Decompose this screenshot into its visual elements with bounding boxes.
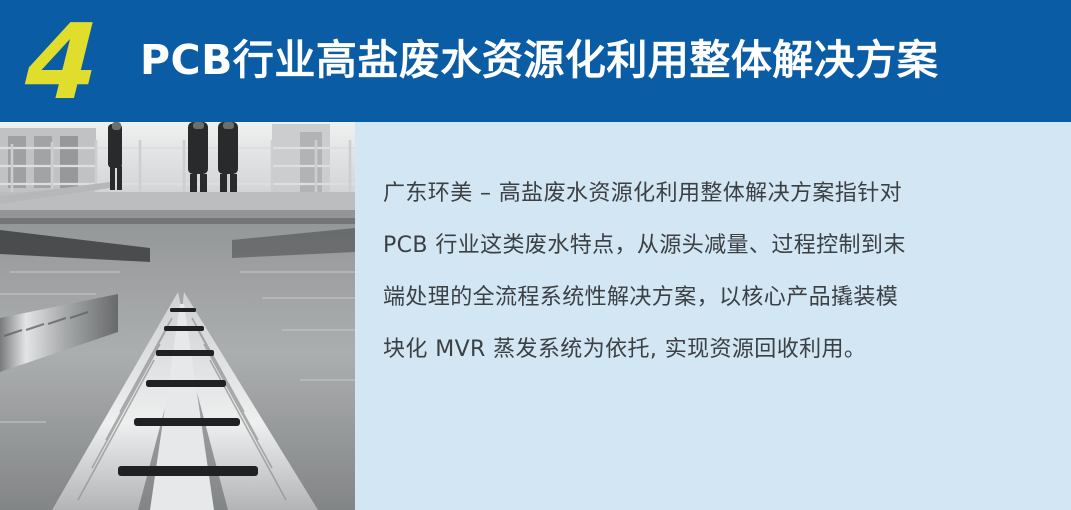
solution-banner-card: 4 PCB行业高盐废水资源化利用整体解决方案 — [0, 0, 1071, 510]
description-line-2: PCB 行业这类废水特点，从源头减量、过程控制到末 — [383, 220, 1023, 272]
photo-illustration — [0, 122, 355, 510]
description-line-3: 端处理的全流程系统性解决方案，以核心产品撬装模 — [383, 272, 1023, 324]
description-text: 广东环美 – 高盐废水资源化利用整体解决方案指针对 PCB 行业这类废水特点，从… — [383, 168, 1023, 376]
description-line-1: 广东环美 – 高盐废水资源化利用整体解决方案指针对 — [383, 168, 1023, 220]
header-band: 4 PCB行业高盐废水资源化利用整体解决方案 — [0, 0, 1071, 122]
description-line-4: 块化 MVR 蒸发系统为依托, 实现资源回收利用。 — [383, 324, 1023, 376]
page-title: PCB行业高盐废水资源化利用整体解决方案 — [140, 33, 938, 87]
section-number: 4 — [23, 14, 138, 110]
wastewater-plant-photo — [0, 122, 355, 510]
